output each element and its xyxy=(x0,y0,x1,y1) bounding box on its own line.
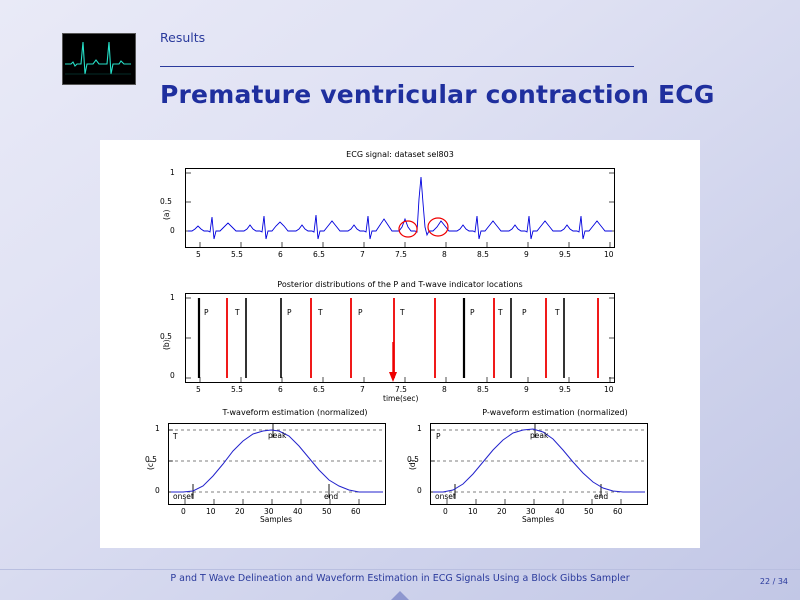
panel-b-xtick-9: 9.5 xyxy=(559,385,571,394)
ecg-logo-graphic xyxy=(63,34,133,82)
panel-d-title: P-waveform estimation (normalized) xyxy=(420,408,690,417)
ecg-logo xyxy=(62,33,136,85)
panel-c-xtick-6: 60 xyxy=(351,507,361,516)
panel-b-wave-label-6: P xyxy=(470,308,475,317)
panel-c-xtick-4: 40 xyxy=(293,507,303,516)
panel-b-wave-label-0: P xyxy=(204,308,209,317)
panel-c-ytick-2: 1 xyxy=(155,424,160,433)
panel-a-ytick-1: 0.5 xyxy=(160,197,172,206)
panel-d-ytick-1: 0.5 xyxy=(407,455,419,464)
panel-d-ytick-2: 1 xyxy=(417,424,422,433)
section-title: Results xyxy=(160,30,205,45)
panel-a-xtick-2: 6 xyxy=(278,250,283,259)
panel-a-ytick-2: 1 xyxy=(170,168,175,177)
title-rule xyxy=(160,66,634,67)
panel-b-xtick-6: 8 xyxy=(442,385,447,394)
panel-b-xtick-0: 5 xyxy=(196,385,201,394)
panel-a-signal xyxy=(186,169,614,247)
panel-b-wave-label-4: P xyxy=(358,308,363,317)
panel-b-ytick-1: 0.5 xyxy=(160,332,172,341)
panel-a-ylabel: (a) xyxy=(162,210,171,220)
panel-b-xtick-4: 7 xyxy=(360,385,365,394)
panel-c-mark-onset: onset xyxy=(173,492,194,501)
panel-b-ytick-0: 0 xyxy=(170,371,175,380)
panel-a-xtick-3: 6.5 xyxy=(313,250,325,259)
figure-panel: ECG signal: dataset sel803 xyxy=(100,140,700,548)
panel-b-wave-label-7: T xyxy=(498,308,503,317)
panel-b-xtick-3: 6.5 xyxy=(313,385,325,394)
panel-d-xtick-2: 20 xyxy=(497,507,507,516)
circle-marker-2 xyxy=(428,218,448,236)
panel-c-xtick-1: 10 xyxy=(206,507,216,516)
panel-c-mark-end: end xyxy=(324,492,338,501)
panel-b-wave-label-8: P xyxy=(522,308,527,317)
panel-a-xtick-9: 9.5 xyxy=(559,250,571,259)
footer-triangle-icon xyxy=(391,591,409,600)
panel-d-xtick-5: 50 xyxy=(584,507,594,516)
panel-b-arrow-annotation xyxy=(387,342,399,384)
panel-b-xtick-1: 5.5 xyxy=(231,385,243,394)
panel-a-xtick-8: 9 xyxy=(524,250,529,259)
panel-c-ytick-1: 0.5 xyxy=(145,455,157,464)
panel-d-mark-peak: peak xyxy=(530,431,548,440)
panel-a-plot xyxy=(185,168,615,248)
panel-b-wave-label-3: T xyxy=(318,308,323,317)
panel-d-xtick-0: 0 xyxy=(443,507,448,516)
panel-a-xtick-6: 8 xyxy=(442,250,447,259)
panel-c-ytick-0: 0 xyxy=(155,486,160,495)
panel-c-xtick-0: 0 xyxy=(181,507,186,516)
panel-b-xtick-7: 8.5 xyxy=(477,385,489,394)
panel-b-ytick-2: 1 xyxy=(170,293,175,302)
panel-a-xtick-0: 5 xyxy=(196,250,201,259)
panel-b-plot xyxy=(185,293,615,383)
panel-b-xlabel: time(sec) xyxy=(383,394,418,403)
panel-a-xtick-1: 5.5 xyxy=(231,250,243,259)
panel-d-mark-end: end xyxy=(594,492,608,501)
panel-b-xtick-2: 6 xyxy=(278,385,283,394)
panel-d-mark-onset: onset xyxy=(435,492,456,501)
panel-a-xtick-7: 8.5 xyxy=(477,250,489,259)
panel-d-xtick-6: 60 xyxy=(613,507,623,516)
panel-b-title: Posterior distributions of the P and T-w… xyxy=(220,280,580,289)
panel-d-ytick-0: 0 xyxy=(417,486,422,495)
panel-c-xlabel: Samples xyxy=(260,515,292,524)
panel-b-wave-label-2: P xyxy=(287,308,292,317)
panel-a-title: ECG signal: dataset sel803 xyxy=(263,150,537,159)
panel-c-xtick-5: 50 xyxy=(322,507,332,516)
panel-b-wave-label-5: T xyxy=(400,308,405,317)
page-number: 22 / 34 xyxy=(760,577,788,586)
panel-b-xtick-8: 9 xyxy=(524,385,529,394)
page-title: Premature ventricular contraction ECG xyxy=(160,80,715,109)
panel-b-xtick-10: 10 xyxy=(604,385,614,394)
panel-b-xtick-5: 7.5 xyxy=(395,385,407,394)
panel-c-title: T-waveform estimation (normalized) xyxy=(160,408,430,417)
panel-c-mark-peak: peak xyxy=(268,431,286,440)
panel-d-mark-wave: P xyxy=(436,432,441,441)
panel-c-xtick-2: 20 xyxy=(235,507,245,516)
panel-a-xtick-10: 10 xyxy=(604,250,614,259)
slide: Results Premature ventricular contractio… xyxy=(0,0,800,600)
panel-b-wave-label-9: T xyxy=(555,308,560,317)
panel-c-mark-wave: T xyxy=(173,432,178,441)
panel-a-ytick-0: 0 xyxy=(170,226,175,235)
panel-d-xtick-4: 40 xyxy=(555,507,565,516)
panel-d-xtick-1: 10 xyxy=(468,507,478,516)
footer-rule xyxy=(0,569,800,570)
circle-marker-1 xyxy=(399,221,417,237)
panel-a-xtick-4: 7 xyxy=(360,250,365,259)
footer-text: P and T Wave Delineation and Waveform Es… xyxy=(0,573,800,584)
panel-d-xlabel: Samples xyxy=(522,515,554,524)
panel-b-wave-label-1: T xyxy=(235,308,240,317)
panel-a-xtick-5: 7.5 xyxy=(395,250,407,259)
